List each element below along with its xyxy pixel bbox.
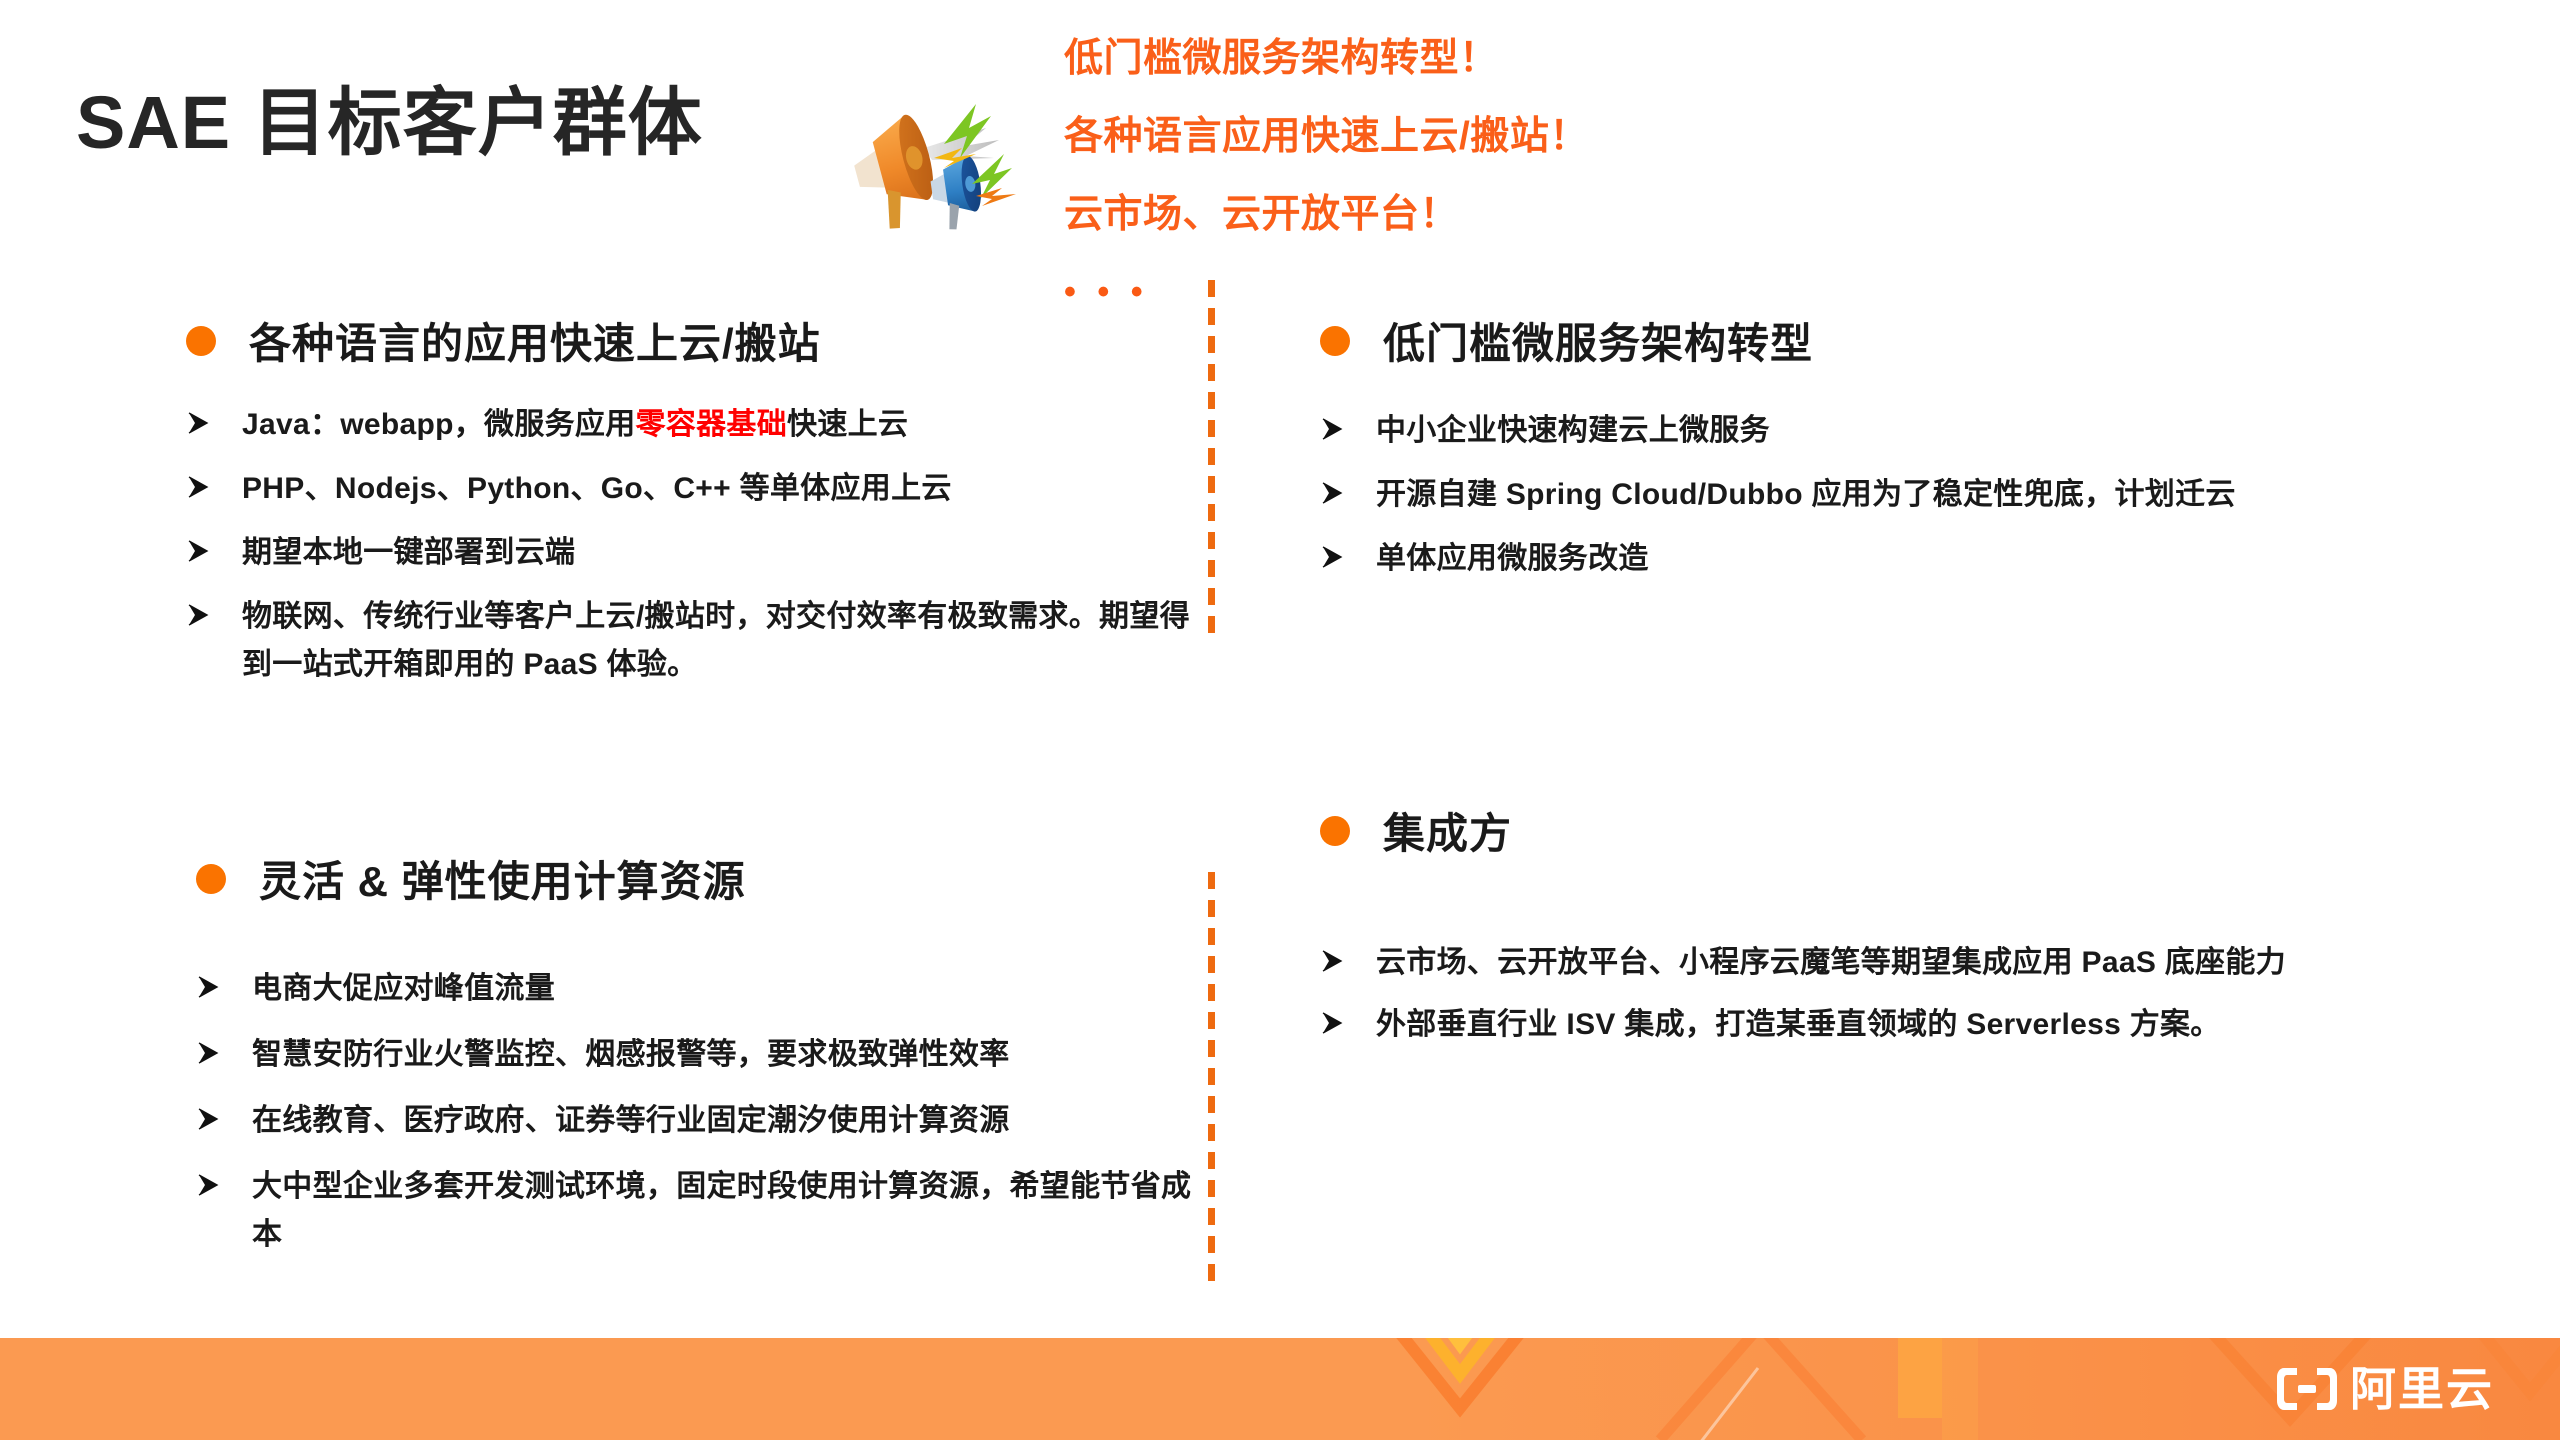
page-title: SAE 目标客户群体 [76,82,703,163]
arrow-bullet-icon [186,603,212,632]
brand-name: 阿里云 [2350,1366,2494,1412]
list-item-text: 大中型企业多套开发测试环境，固定时段使用计算资源，希望能节省成本 [252,1163,1206,1259]
section-heading-text: 低门槛微服务架构转型 [1383,310,1813,371]
arrow-bullet-icon [1320,949,1346,978]
list-item-text: 云市场、云开放平台、小程序云魔笔等期望集成应用 PaaS 底座能力 [1376,939,2286,987]
list-item: 云市场、云开放平台、小程序云魔笔等期望集成应用 PaaS 底座能力 [1320,939,2520,987]
list-item-text: 智慧安防行业火警监控、烟感报警等，要求极致弹性效率 [252,1031,1010,1079]
arrow-bullet-icon [1320,1011,1346,1040]
alibaba-cloud-logo: 阿里云 [2276,1365,2494,1413]
list-item-text: Java：webapp，微服务应用零容器基础快速上云 [242,401,908,449]
list-item: 物联网、传统行业等客户上云/搬站时，对交付效率有极致需求。期望得到一站式开箱即用… [186,593,1196,689]
highlight-red: 零容器基础 [636,408,788,441]
list-item-text: 单体应用微服务改造 [1376,535,1649,583]
arrow-bullet-icon [196,1173,222,1202]
section-heading-elastic: 灵活 & 弹性使用计算资源 [196,848,1206,909]
bullet-list-languages: Java：webapp，微服务应用零容器基础快速上云 PHP、Nodejs、Py… [186,401,1196,689]
list-item: 开源自建 Spring Cloud/Dubbo 应用为了稳定性兜底，计划迁云 [1320,471,2500,519]
list-item-text: 电商大促应对峰值流量 [252,965,555,1013]
orange-dot-icon [1320,326,1350,356]
alibaba-cloud-mark-icon [2276,1365,2338,1413]
list-item-text: 期望本地一键部署到云端 [242,529,575,577]
section-heading-text: 灵活 & 弹性使用计算资源 [259,848,746,909]
slide-root: SAE 目标客户群体 [0,0,2560,1440]
arrow-bullet-icon [1320,481,1346,510]
list-item: 智慧安防行业火警监控、烟感报警等，要求极致弹性效率 [196,1031,1206,1079]
section-microservice: 低门槛微服务架构转型 中小企业快速构建云上微服务 开源自建 Spring Clo… [1320,310,2500,599]
headline-block: 低门槛微服务架构转型！ 各种语言应用快速上云/搬站！ 云市场、云开放平台！ [1064,20,1764,254]
arrow-bullet-icon [186,475,212,504]
footer-chevron-pattern [0,1338,2560,1440]
headline-line-1: 低门槛微服务架构转型！ [1064,20,1764,98]
arrow-bullet-icon [196,975,222,1004]
section-heading-text: 集成方 [1383,800,1512,861]
list-item: 大中型企业多套开发测试环境，固定时段使用计算资源，希望能节省成本 [196,1163,1206,1259]
list-item-text: 外部垂直行业 ISV 集成，打造某垂直领域的 Serverless 方案。 [1376,1001,2221,1049]
arrow-bullet-icon [186,539,212,568]
section-languages: 各种语言的应用快速上云/搬站 Java：webapp，微服务应用零容器基础快速上… [186,310,1196,705]
list-item-text: PHP、Nodejs、Python、Go、C++ 等单体应用上云 [242,465,952,513]
bullet-list-partner: 云市场、云开放平台、小程序云魔笔等期望集成应用 PaaS 底座能力 外部垂直行业… [1320,939,2520,1049]
list-item: 在线教育、医疗政府、证券等行业固定潮汐使用计算资源 [196,1097,1206,1145]
arrow-bullet-icon [196,1041,222,1070]
list-item-text: 中小企业快速构建云上微服务 [1376,407,1770,455]
bullet-list-elastic: 电商大促应对峰值流量 智慧安防行业火警监控、烟感报警等，要求极致弹性效率 在线教… [196,965,1206,1259]
arrow-bullet-icon [1320,545,1346,574]
list-item: 期望本地一键部署到云端 [186,529,1196,577]
megaphone-icon [836,86,1036,236]
bullet-list-microservice: 中小企业快速构建云上微服务 开源自建 Spring Cloud/Dubbo 应用… [1320,407,2500,583]
list-item: 电商大促应对峰值流量 [196,965,1206,1013]
list-item: PHP、Nodejs、Python、Go、C++ 等单体应用上云 [186,465,1196,513]
headline-line-3: 云市场、云开放平台！ [1064,176,1764,254]
headline-line-2: 各种语言应用快速上云/搬站！ [1064,98,1764,176]
list-item-text: 开源自建 Spring Cloud/Dubbo 应用为了稳定性兜底，计划迁云 [1376,471,2236,519]
arrow-bullet-icon [1320,417,1346,446]
orange-dot-icon [196,864,226,894]
list-item-text: 在线教育、医疗政府、证券等行业固定潮汐使用计算资源 [252,1097,1010,1145]
list-item-text: 物联网、传统行业等客户上云/搬站时，对交付效率有极致需求。期望得到一站式开箱即用… [242,593,1196,689]
section-heading-text: 各种语言的应用快速上云/搬站 [249,310,821,371]
arrow-bullet-icon [196,1107,222,1136]
section-integration-partner: 集成方 云市场、云开放平台、小程序云魔笔等期望集成应用 PaaS 底座能力 外部… [1320,800,2520,1063]
ellipsis-indicator: • • • [1064,282,1149,302]
list-item: 外部垂直行业 ISV 集成，打造某垂直领域的 Serverless 方案。 [1320,1001,2520,1049]
list-item: 单体应用微服务改造 [1320,535,2500,583]
section-heading-languages: 各种语言的应用快速上云/搬站 [186,310,1196,371]
section-heading-partner: 集成方 [1320,800,2520,861]
list-item: 中小企业快速构建云上微服务 [1320,407,2500,455]
column-divider-top [1208,280,1215,642]
section-elastic-resources: 灵活 & 弹性使用计算资源 电商大促应对峰值流量 智慧安防行业火警监控、烟感报警… [196,848,1206,1277]
orange-dot-icon [186,326,216,356]
section-heading-microservice: 低门槛微服务架构转型 [1320,310,2500,371]
orange-dot-icon [1320,816,1350,846]
column-divider-bottom [1208,872,1215,1286]
list-item: Java：webapp，微服务应用零容器基础快速上云 [186,401,1196,449]
footer-band: 阿里云 [0,1338,2560,1440]
arrow-bullet-icon [186,411,212,440]
